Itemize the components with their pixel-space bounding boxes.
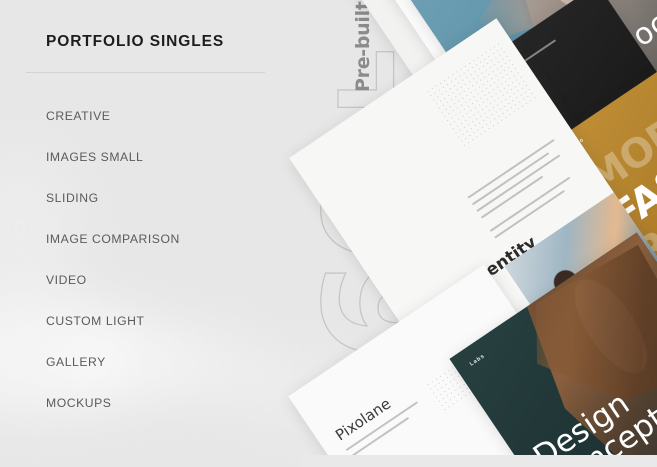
bottom-edge-strip [300, 455, 657, 467]
title-divider [26, 72, 265, 73]
menu-item-sliding[interactable]: SLIDING [0, 178, 300, 219]
menu-item-images-small[interactable]: IMAGES SMALL [0, 137, 300, 178]
design-concept-logo: Labs [469, 353, 486, 367]
menu-item-gallery[interactable]: GALLERY [0, 342, 300, 383]
menu-item-mockups[interactable]: MOCKUPS [0, 383, 300, 424]
top-paddock-logo: Paddock [425, 0, 453, 1]
portfolio-panel: PORTFOLIO SINGLES CREATIVE IMAGES SMALL … [0, 0, 300, 467]
mockup-collage: Paddock FEATURED Top Paddock www.toppadd… [300, 0, 657, 467]
menu-item-custom-light[interactable]: CUSTOM LIGHT [0, 301, 300, 342]
page-title: PORTFOLIO SINGLES [46, 33, 224, 51]
menu-item-video[interactable]: VIDEO [0, 260, 300, 301]
menu-item-image-comparison[interactable]: IMAGE COMPARISON [0, 219, 300, 260]
menu-item-creative[interactable]: CREATIVE [0, 96, 300, 137]
screen-canvas: Paddock FEATURED Top Paddock www.toppadd… [0, 0, 657, 467]
portfolio-menu: CREATIVE IMAGES SMALL SLIDING IMAGE COMP… [0, 96, 300, 424]
